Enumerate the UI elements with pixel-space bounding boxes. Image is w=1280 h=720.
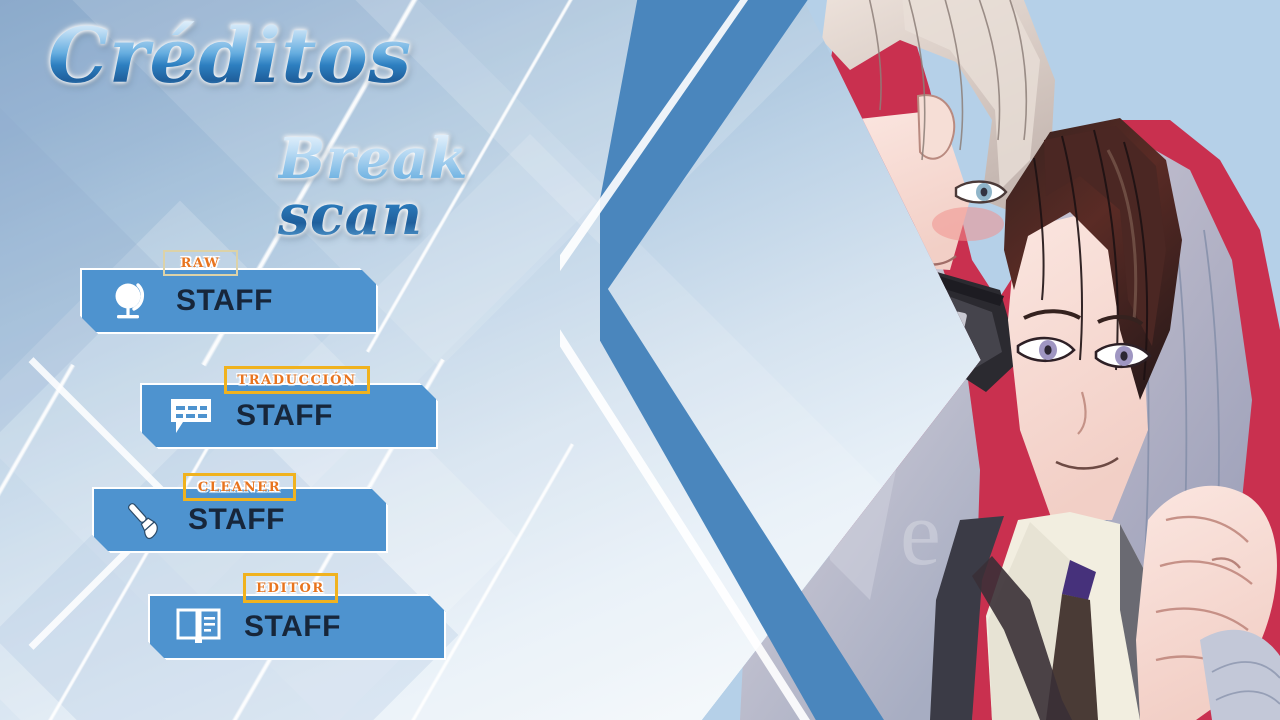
globe-icon [100, 279, 162, 323]
role-tag-traduccion: TRADUCCIÓN [224, 366, 370, 394]
role-tag-editor: EDITOR [243, 573, 338, 603]
staff-label: STAFF [188, 503, 285, 537]
credit-row-editor[interactable]: STAFF [148, 594, 446, 660]
role-tag-cleaner: CLEANER [183, 473, 296, 501]
artwork-panel: e [600, 0, 1280, 720]
artwork-canvas: e [600, 0, 1280, 720]
staff-label: STAFF [176, 284, 273, 318]
credit-row-raw[interactable]: STAFF [80, 268, 378, 334]
sleeve [1200, 630, 1280, 720]
credits-page: e Créditos Break scan STAFF RAW [0, 0, 1280, 720]
paintbrush-icon [112, 498, 174, 542]
illustration-svg [600, 0, 1280, 720]
artwork-clip: e [600, 0, 1280, 720]
speech-bubble-icon [160, 394, 222, 438]
role-tag-raw: RAW [163, 250, 238, 276]
open-book-icon [168, 605, 230, 649]
staff-label: STAFF [236, 399, 333, 433]
staff-label: STAFF [244, 610, 341, 644]
